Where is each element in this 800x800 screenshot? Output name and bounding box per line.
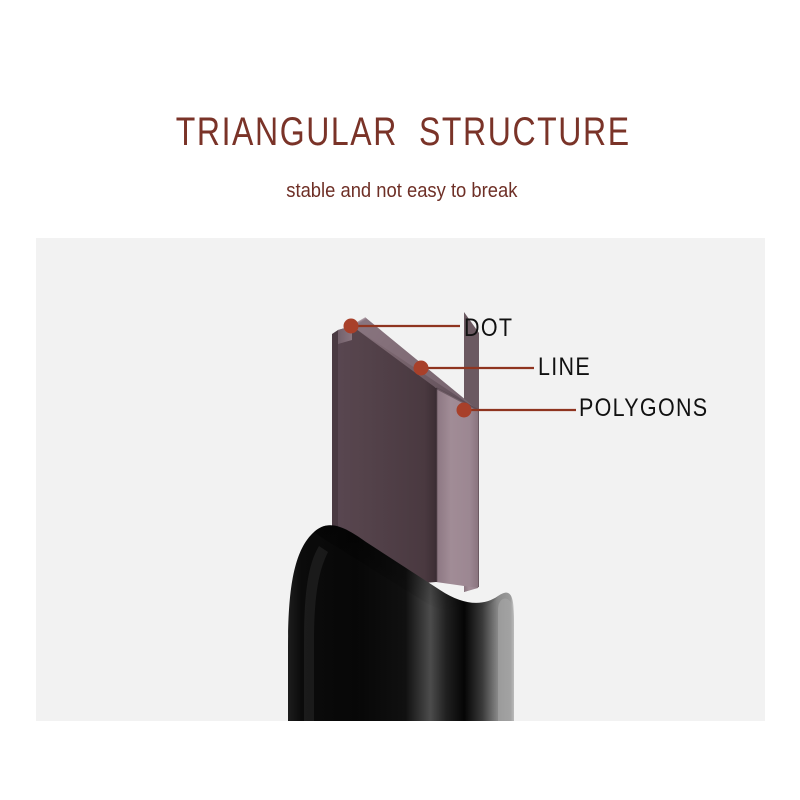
barrel-edge-light — [498, 598, 514, 721]
heading-block: TRIANGULAR STRUCTURE stable and not easy… — [0, 108, 800, 204]
marketing-image-page: TRIANGULAR STRUCTURE stable and not easy… — [0, 0, 800, 800]
product-photo-panel — [36, 238, 765, 721]
tip-side-face-main — [436, 388, 478, 588]
page-title: TRIANGULAR STRUCTURE — [80, 108, 720, 156]
callout-label-line: LINE — [538, 355, 591, 380]
marker-polygons — [457, 403, 472, 418]
marker-line — [414, 361, 429, 376]
callout-label-polygons: POLYGONS — [579, 396, 708, 421]
callout-label-dot: DOT — [464, 316, 513, 341]
marker-dot — [344, 319, 359, 334]
page-subtitle: stable and not easy to break — [32, 156, 768, 204]
product-illustration — [36, 238, 765, 721]
